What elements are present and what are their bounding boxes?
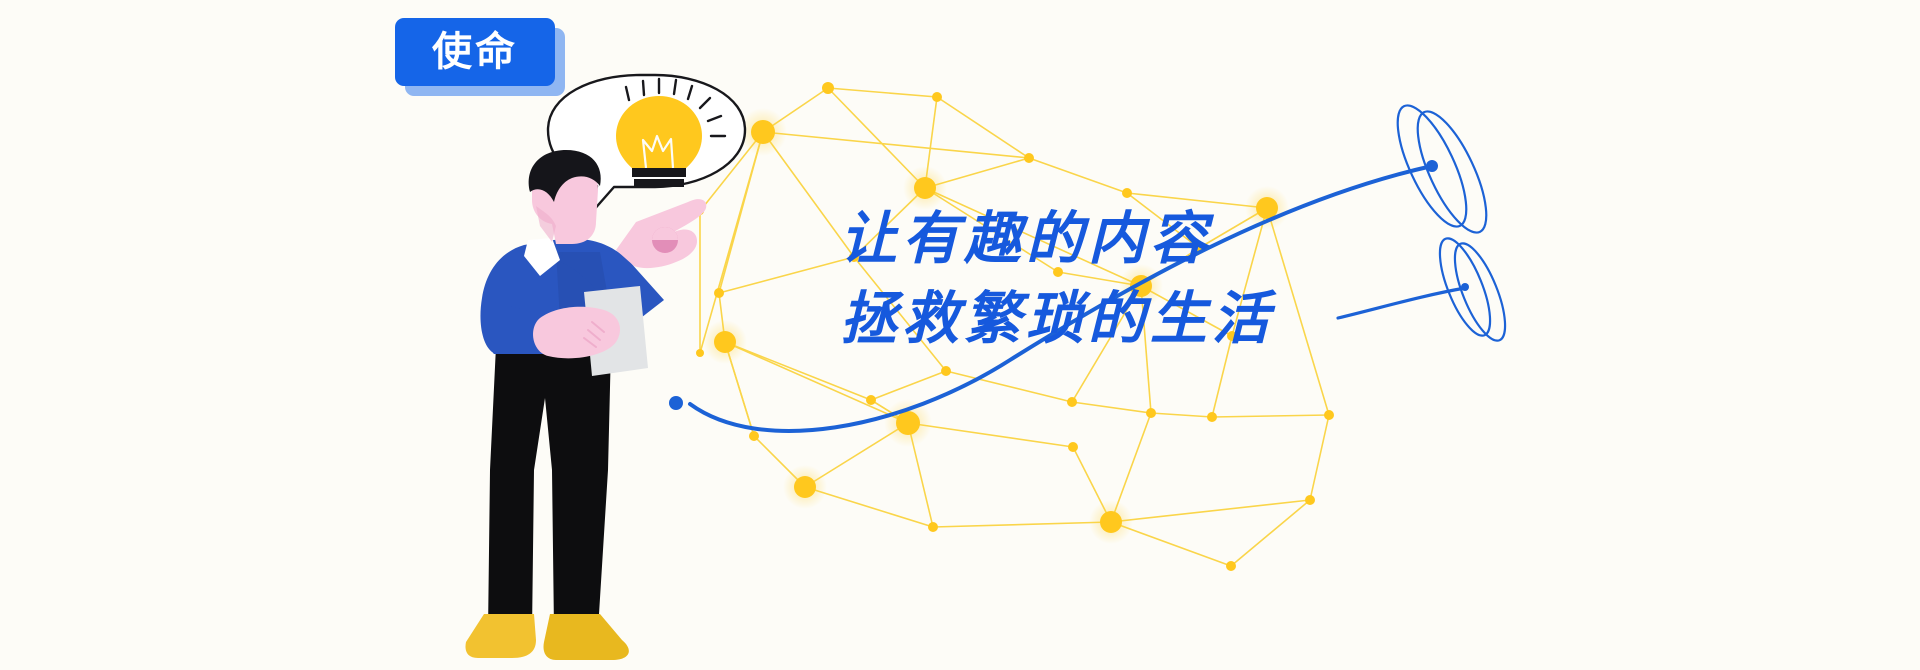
mission-badge-label: 使命 — [432, 32, 518, 72]
mission-badge[interactable]: 使命 — [395, 18, 555, 86]
mission-banner: 让有趣的内容 拯救繁琐的生活 — [0, 0, 1920, 670]
badge-block: 使命 — [0, 0, 1920, 670]
mission-badge-face: 使命 — [395, 18, 555, 86]
